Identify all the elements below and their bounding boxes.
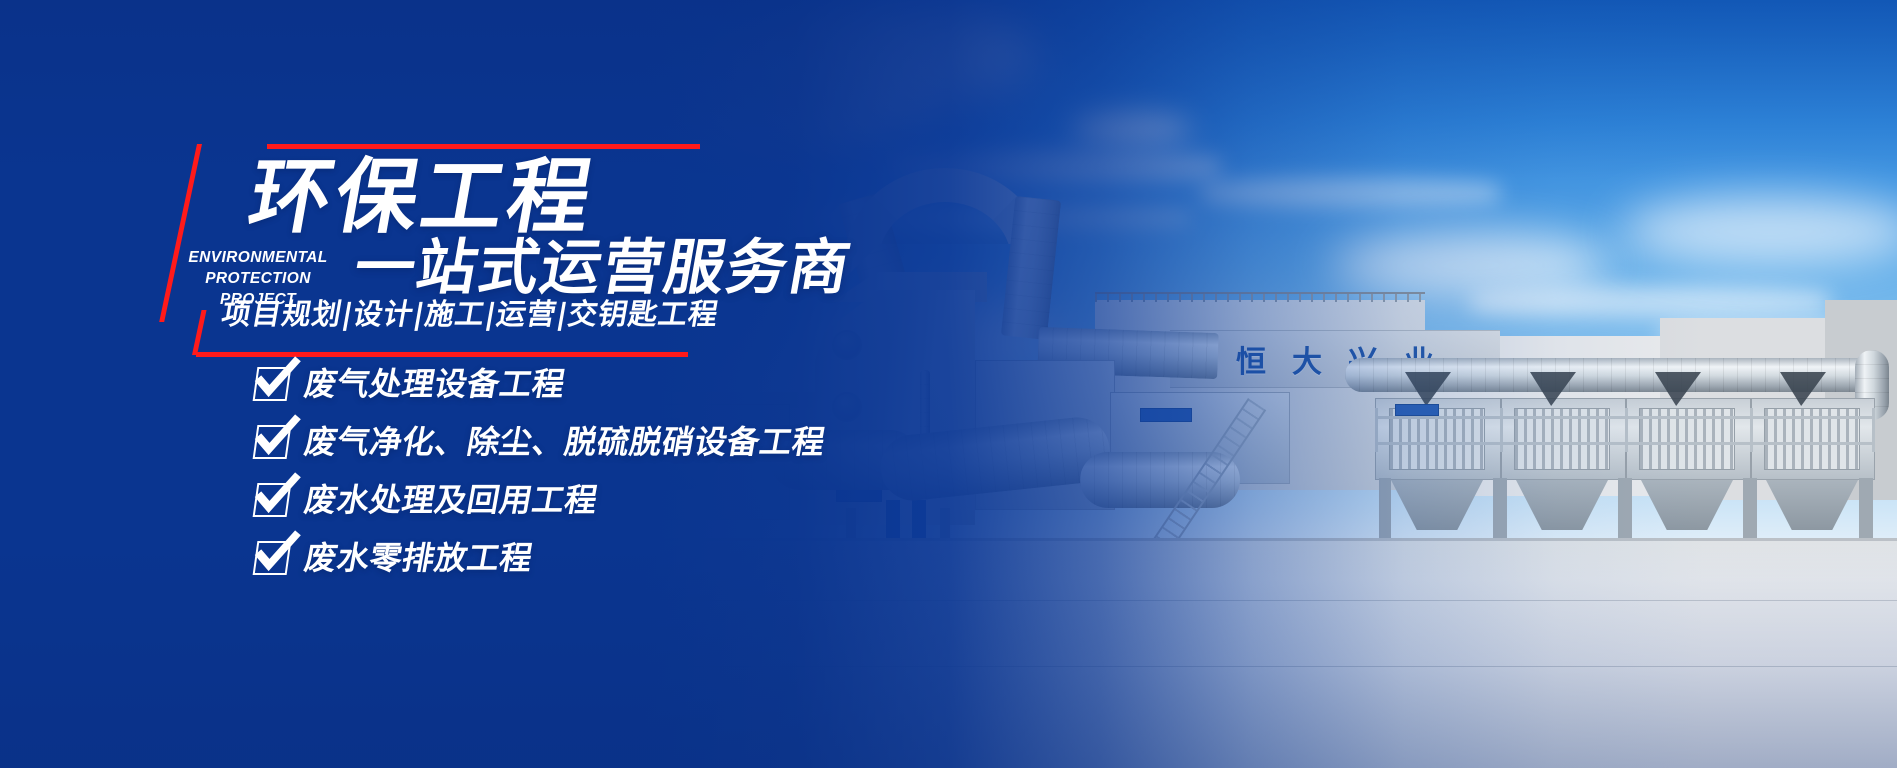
checklist-item: 废水处理及回用工程 <box>255 478 825 522</box>
checklist-item-label: 废气处理设备工程 <box>302 368 568 400</box>
page-title: 环保工程 <box>243 157 601 239</box>
checkmark-icon <box>253 541 292 575</box>
hero-banner: 恒 大 兴 业 <box>0 0 1897 768</box>
checklist-item-label: 废水零排放工程 <box>302 542 535 574</box>
red-bracket-bottom-line <box>196 352 688 357</box>
banner-content: 环保工程 一站式运营服务商 ENVIRONMENTAL PROTECTION P… <box>0 0 1897 768</box>
red-bracket-top-line <box>267 144 700 149</box>
checklist-item: 废气处理设备工程 <box>255 362 825 406</box>
service-checklist: 废气处理设备工程 废气净化、除尘、脱硫脱硝设备工程 废水处理及回用工程 <box>255 362 825 594</box>
checklist-item-label: 废气净化、除尘、脱硫脱硝设备工程 <box>302 426 828 458</box>
checkmark-icon <box>253 367 292 401</box>
checkmark-icon <box>253 483 292 517</box>
services-line: 项目规划|设计|施工|运营|交钥匙工程 <box>219 300 720 329</box>
red-bracket-bottom-diagonal <box>192 310 207 355</box>
checklist-item: 废气净化、除尘、脱硫脱硝设备工程 <box>255 420 825 464</box>
checklist-item-label: 废水处理及回用工程 <box>302 484 600 516</box>
page-subtitle: 一站式运营服务商 <box>350 238 857 298</box>
checkmark-icon <box>253 425 292 459</box>
english-tagline-line1: ENVIRONMENTAL PROTECTION <box>163 248 353 290</box>
checklist-item: 废水零排放工程 <box>255 536 825 580</box>
